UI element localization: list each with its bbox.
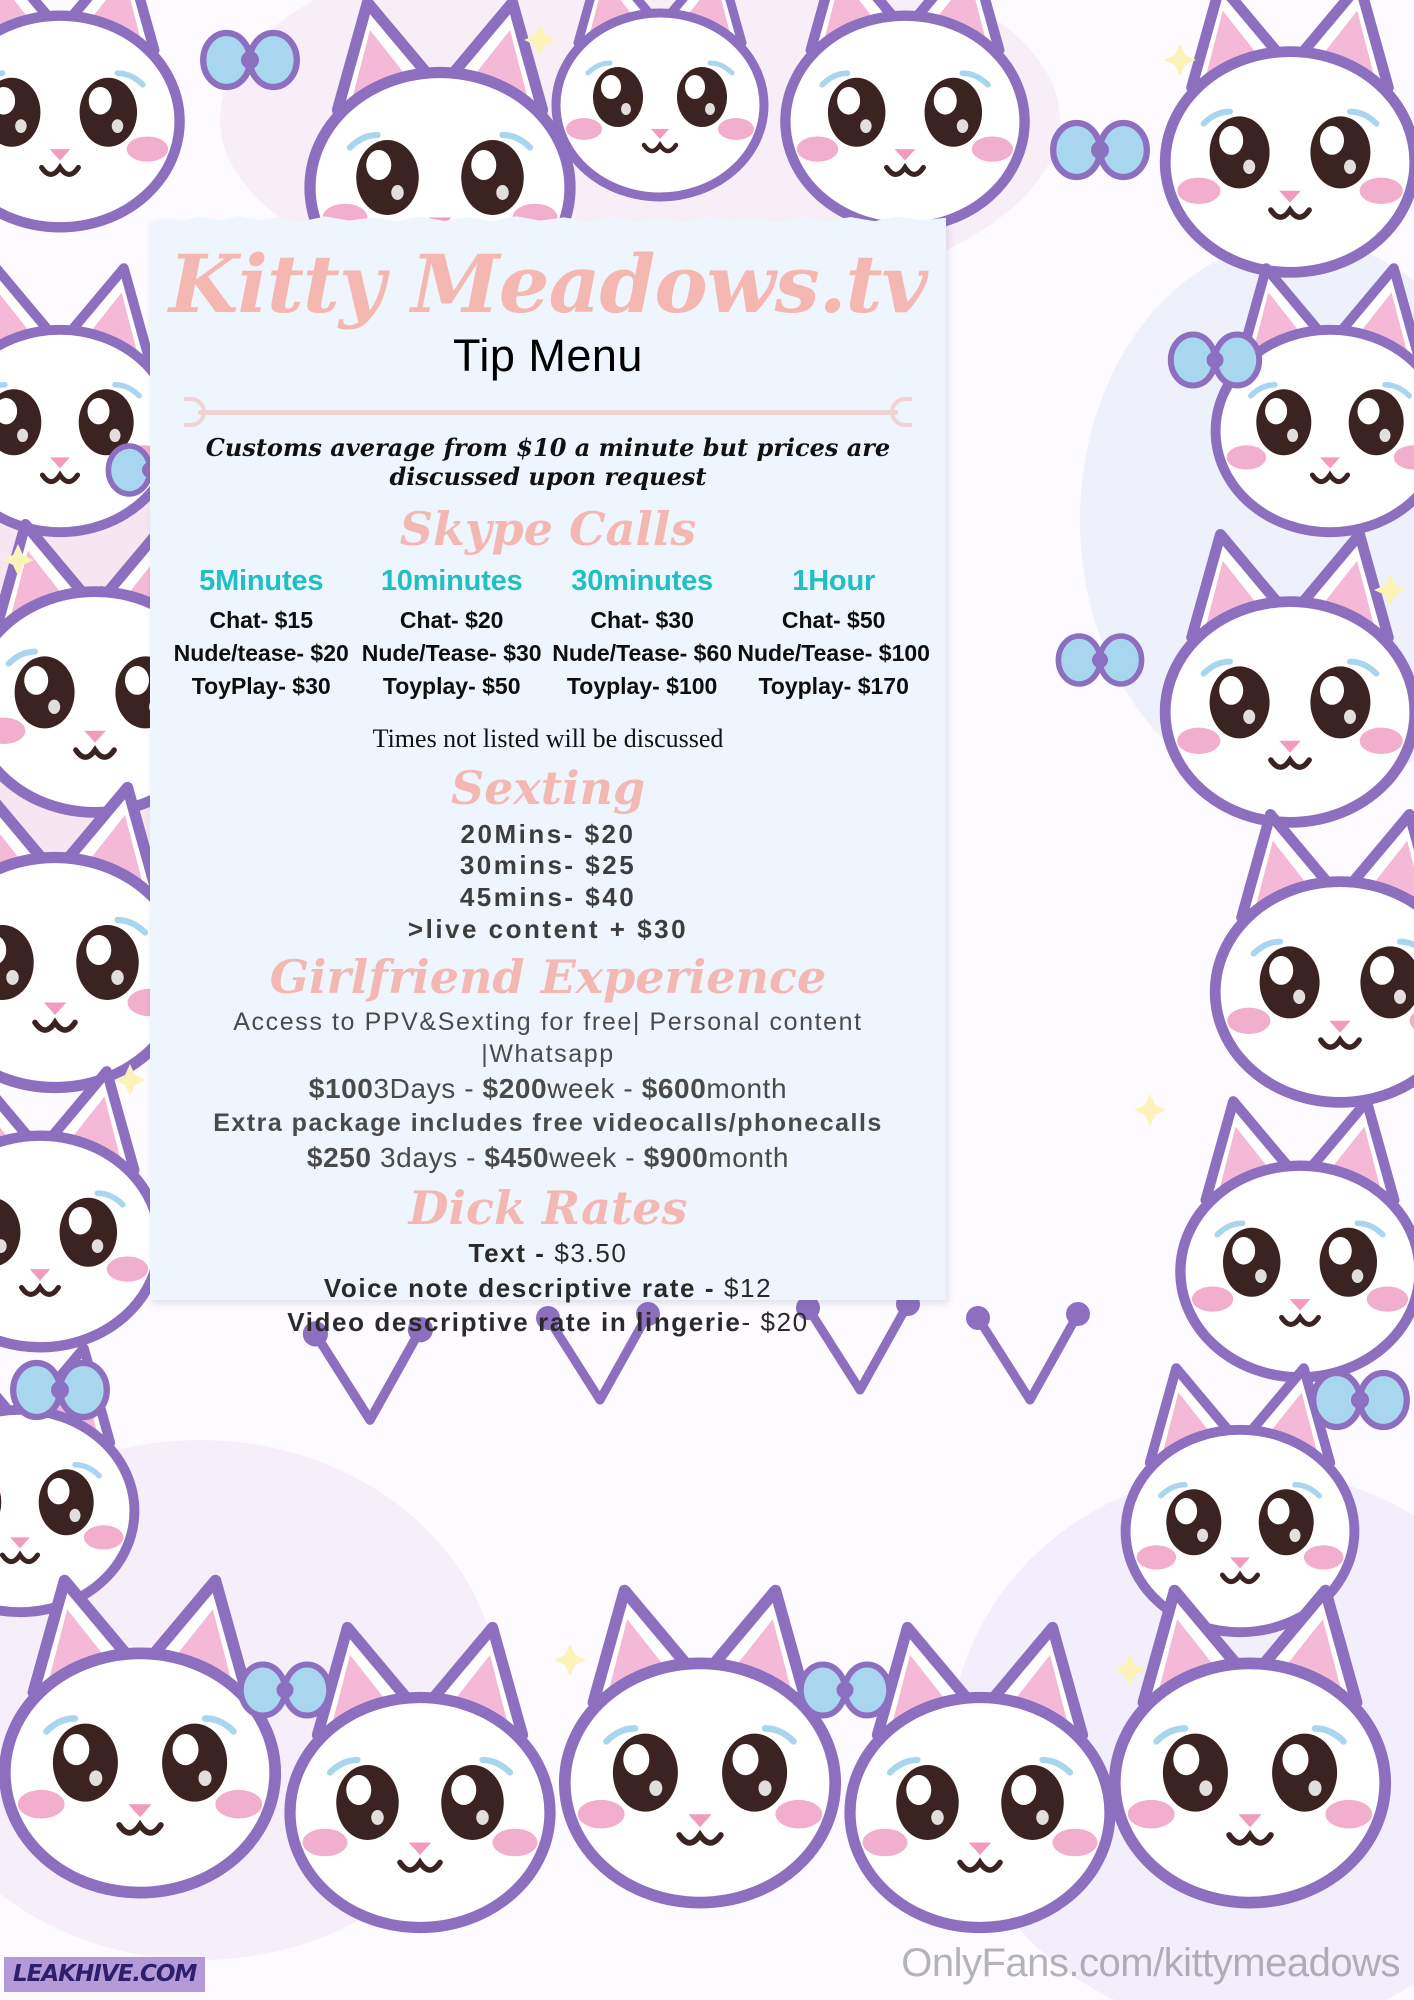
- girlfriend-experience-body: Access to PPV&Sexting for free| Personal…: [166, 1006, 930, 1176]
- dick-rate-price: $12: [724, 1273, 772, 1303]
- customs-note: Customs average from $10 a minute but pr…: [166, 433, 930, 491]
- gfe-extra-package-note: Extra package includes free videocalls/p…: [166, 1107, 930, 1140]
- dick-rate-label: Video descriptive rate in lingerie: [287, 1307, 741, 1337]
- gfe-basic-term-2: week: [547, 1073, 615, 1104]
- skype-price-line: Toyplay- $170: [737, 670, 930, 703]
- sexting-price-list: 20Mins- $20 30mins- $25 45mins- $40 >liv…: [166, 819, 930, 946]
- gfe-basic-price-1: $100: [309, 1073, 374, 1104]
- sexting-row: 30mins- $25: [166, 850, 930, 882]
- skype-duration-label: 1Hour: [737, 565, 930, 598]
- dick-rate-price: $3.50: [554, 1238, 627, 1268]
- skype-column-5minutes: 5Minutes Chat- $15 Nude/tease- $20 ToyPl…: [166, 565, 356, 702]
- skype-column-1hour: 1Hour Chat- $50 Nude/Tease- $100 Toyplay…: [737, 565, 930, 702]
- gfe-basic-price-2: $200: [483, 1073, 548, 1104]
- page-title: Kitty Meadows.tv: [166, 222, 930, 324]
- gfe-basic-sep-2: -: [615, 1073, 642, 1104]
- skype-price-line: Chat- $50: [737, 604, 930, 637]
- girlfriend-experience-heading: Girlfriend Experience: [166, 953, 930, 1001]
- skype-duration-label: 5Minutes: [166, 565, 356, 598]
- skype-column-30minutes: 30minutes Chat- $30 Nude/Tease- $60 Toyp…: [547, 565, 737, 702]
- skype-price-line: Chat- $20: [356, 604, 546, 637]
- decorative-divider: [184, 400, 912, 424]
- gfe-extra-price-2: $450: [484, 1142, 549, 1173]
- dick-rate-row: Video descriptive rate in lingerie- $20: [166, 1305, 930, 1340]
- skype-duration-label: 30minutes: [547, 565, 737, 598]
- skype-price-line: Toyplay- $100: [547, 670, 737, 703]
- tip-menu-card: Kitty Meadows.tv Tip Menu Customs averag…: [150, 222, 946, 1300]
- gfe-basic-term-3: month: [706, 1073, 787, 1104]
- dick-rate-price: - $20: [741, 1307, 808, 1337]
- gfe-extra-term-2: week: [549, 1142, 617, 1173]
- skype-footnote: Times not listed will be discussed: [166, 724, 930, 754]
- gfe-access-line: Access to PPV&Sexting for free| Personal…: [166, 1006, 930, 1071]
- dick-rate-label: Voice note descriptive rate -: [324, 1273, 724, 1303]
- gfe-extra-price-1: $250: [307, 1142, 372, 1173]
- skype-calls-heading: Skype Calls: [166, 505, 930, 553]
- leakhive-watermark: LEAKHIVE.COM: [4, 1957, 205, 1992]
- skype-price-line: Nude/Tease- $100: [737, 637, 930, 670]
- divider-right-bracket-icon: [890, 397, 912, 427]
- sexting-row: 20Mins- $20: [166, 819, 930, 851]
- onlyfans-watermark: OnlyFans.com/kittymeadows: [901, 1941, 1400, 1986]
- skype-price-line: Chat- $30: [547, 604, 737, 637]
- skype-price-line: ToyPlay- $30: [166, 670, 356, 703]
- dick-rate-row: Text - $3.50: [166, 1236, 930, 1271]
- gfe-extra-sep-1: -: [458, 1142, 485, 1173]
- gfe-extra-term-1: 3days: [372, 1142, 458, 1173]
- gfe-extra-term-3: month: [708, 1142, 789, 1173]
- skype-duration-label: 10minutes: [356, 565, 546, 598]
- sexting-heading: Sexting: [166, 764, 930, 812]
- gfe-extra-sep-2: -: [617, 1142, 644, 1173]
- skype-price-grid: 5Minutes Chat- $15 Nude/tease- $20 ToyPl…: [166, 565, 930, 702]
- divider-bar: [198, 410, 898, 415]
- gfe-extra-price-3: $900: [644, 1142, 709, 1173]
- dick-rate-label: Text -: [469, 1238, 555, 1268]
- skype-price-line: Nude/Tease- $60: [547, 637, 737, 670]
- skype-price-line: Chat- $15: [166, 604, 356, 637]
- dick-rates-body: Text - $3.50 Voice note descriptive rate…: [166, 1236, 930, 1340]
- gfe-basic-package-line: $1003Days - $200week - $600month: [166, 1071, 930, 1107]
- skype-price-line: Nude/Tease- $30: [356, 637, 546, 670]
- gfe-basic-sep-1: -: [456, 1073, 483, 1104]
- gfe-basic-price-3: $600: [642, 1073, 707, 1104]
- sexting-row: >live content + $30: [166, 914, 930, 946]
- gfe-basic-term-1: 3Days: [373, 1073, 455, 1104]
- skype-price-line: Toyplay- $50: [356, 670, 546, 703]
- gfe-extra-package-line: $250 3days - $450week - $900month: [166, 1140, 930, 1176]
- skype-column-10minutes: 10minutes Chat- $20 Nude/Tease- $30 Toyp…: [356, 565, 546, 702]
- dick-rate-row: Voice note descriptive rate - $12: [166, 1271, 930, 1306]
- dick-rates-heading: Dick Rates: [166, 1184, 930, 1232]
- skype-price-line: Nude/tease- $20: [166, 637, 356, 670]
- page-subtitle: Tip Menu: [166, 330, 930, 382]
- sexting-row: 45mins- $40: [166, 882, 930, 914]
